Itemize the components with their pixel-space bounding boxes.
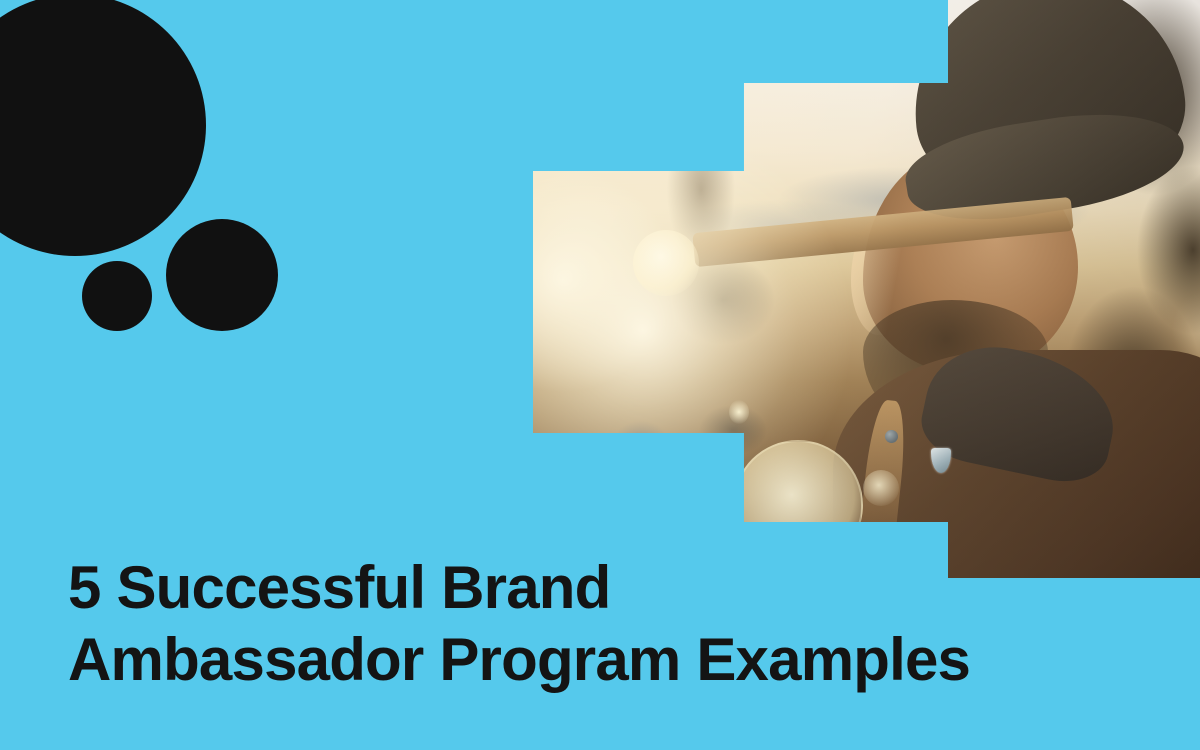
page-title: 5 Successful Brand Ambassador Program Ex… xyxy=(68,552,1078,696)
hero-photo xyxy=(533,0,1200,578)
decorative-circle-small xyxy=(82,261,152,331)
decorative-circle-medium xyxy=(166,219,278,331)
photo-color-grade xyxy=(533,0,1200,578)
decorative-circle-large xyxy=(0,0,206,256)
blog-header-banner: 5 Successful Brand Ambassador Program Ex… xyxy=(0,0,1200,750)
